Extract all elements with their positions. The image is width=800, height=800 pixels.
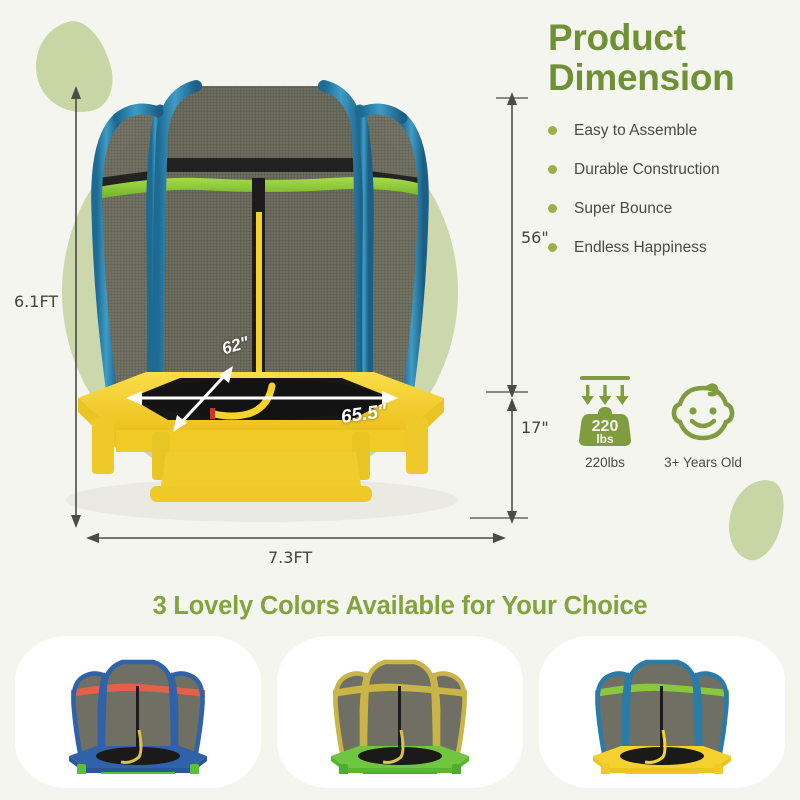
spec-weight-capacity: 220 lbs 220lbs: [556, 372, 654, 470]
feature-label: Super Bounce: [574, 200, 672, 218]
variant-card-blue-green[interactable]: [15, 636, 261, 788]
bullet-dot-icon: [548, 204, 557, 213]
spec-icon-group: 220 lbs 220lbs 3+ Years Old: [556, 372, 752, 470]
variant-card-yellow-blue[interactable]: [539, 636, 785, 788]
dimension-frame-height: 17": [521, 418, 549, 437]
feature-item-durable-construction: Durable Construction: [548, 161, 800, 179]
spec-age-range: 3+ Years Old: [654, 372, 752, 470]
feature-label: Endless Happiness: [574, 239, 707, 257]
bullet-dot-icon: [548, 165, 557, 174]
colors-banner-heading: 3 Lovely Colors Available for Your Choic…: [0, 592, 800, 621]
trampoline-drawing: [0, 0, 540, 580]
dimension-overall-height: 6.1FT: [14, 292, 58, 311]
baby-face-icon: [654, 372, 752, 448]
page-title-line-1: Product: [548, 18, 800, 58]
spec-label-age: 3+ Years Old: [654, 455, 752, 470]
feature-label: Durable Construction: [574, 161, 720, 179]
weight-capacity-icon: 220 lbs: [556, 372, 654, 448]
page-title: Product Dimension: [548, 18, 800, 98]
decorative-blob-bottom-right: [719, 472, 794, 566]
feature-item-endless-happiness: Endless Happiness: [548, 239, 800, 257]
product-illustration: 6.1FT 7.3FT 56" 17" 62" 65.5": [0, 0, 540, 580]
feature-list: Easy to Assemble Durable Construction Su…: [548, 122, 800, 257]
weight-unit: lbs: [596, 432, 614, 446]
dimension-net-height: 56": [521, 228, 549, 247]
feature-label: Easy to Assemble: [574, 122, 697, 140]
trampoline-thumbnail-blue-green: [43, 650, 233, 774]
bullet-dot-icon: [548, 243, 557, 252]
page-title-line-2: Dimension: [548, 58, 800, 98]
feature-item-easy-to-assemble: Easy to Assemble: [548, 122, 800, 140]
trampoline-thumbnail-yellow-blue: [567, 650, 757, 774]
feature-item-super-bounce: Super Bounce: [548, 200, 800, 218]
right-column: Product Dimension Easy to Assemble Durab…: [548, 18, 800, 278]
trampoline-thumbnail-green-yellow: [305, 650, 495, 774]
infographic-page: 6.1FT 7.3FT 56" 17" 62" 65.5" Product Di…: [0, 0, 800, 800]
color-variant-list: [0, 636, 800, 788]
variant-card-green-yellow[interactable]: [277, 636, 523, 788]
dimension-overall-width: 7.3FT: [268, 548, 312, 567]
bullet-dot-icon: [548, 126, 557, 135]
spec-label-weight: 220lbs: [556, 455, 654, 470]
